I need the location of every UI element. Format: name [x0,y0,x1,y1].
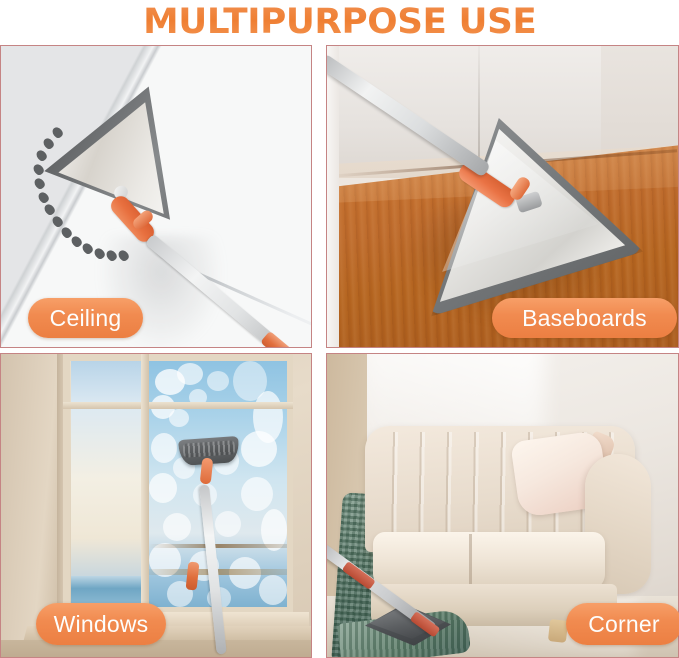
window-mullion-vertical [141,354,149,614]
page-title: MULTIPURPOSE USE [143,5,536,40]
window-glass-left-pane [71,361,143,607]
soap-foam [241,477,273,511]
soap-foam [241,431,277,467]
badge-ceiling: Ceiling [28,298,143,338]
page-title-bar: MULTIPURPOSE USE [0,0,679,44]
wall-left-trim [327,46,339,347]
soap-foam [259,575,287,605]
soap-foam [177,363,203,385]
badge-corner: Corner [566,603,679,645]
soap-foam [151,433,177,463]
product-feature-image: MULTIPURPOSE USE [0,0,679,658]
window-mullion-horizontal [63,402,293,409]
sofa-seat-cushions [373,532,605,590]
badge-baseboards: Baseboards [492,298,677,338]
window-rail-upper [149,544,287,548]
soap-foam [149,473,177,503]
sofa-cushion-seam [469,534,472,588]
soap-foam [207,371,229,391]
soap-foam [169,409,189,427]
badge-windows: Windows [36,603,166,645]
soap-foam [163,513,191,541]
soap-foam [215,511,241,537]
